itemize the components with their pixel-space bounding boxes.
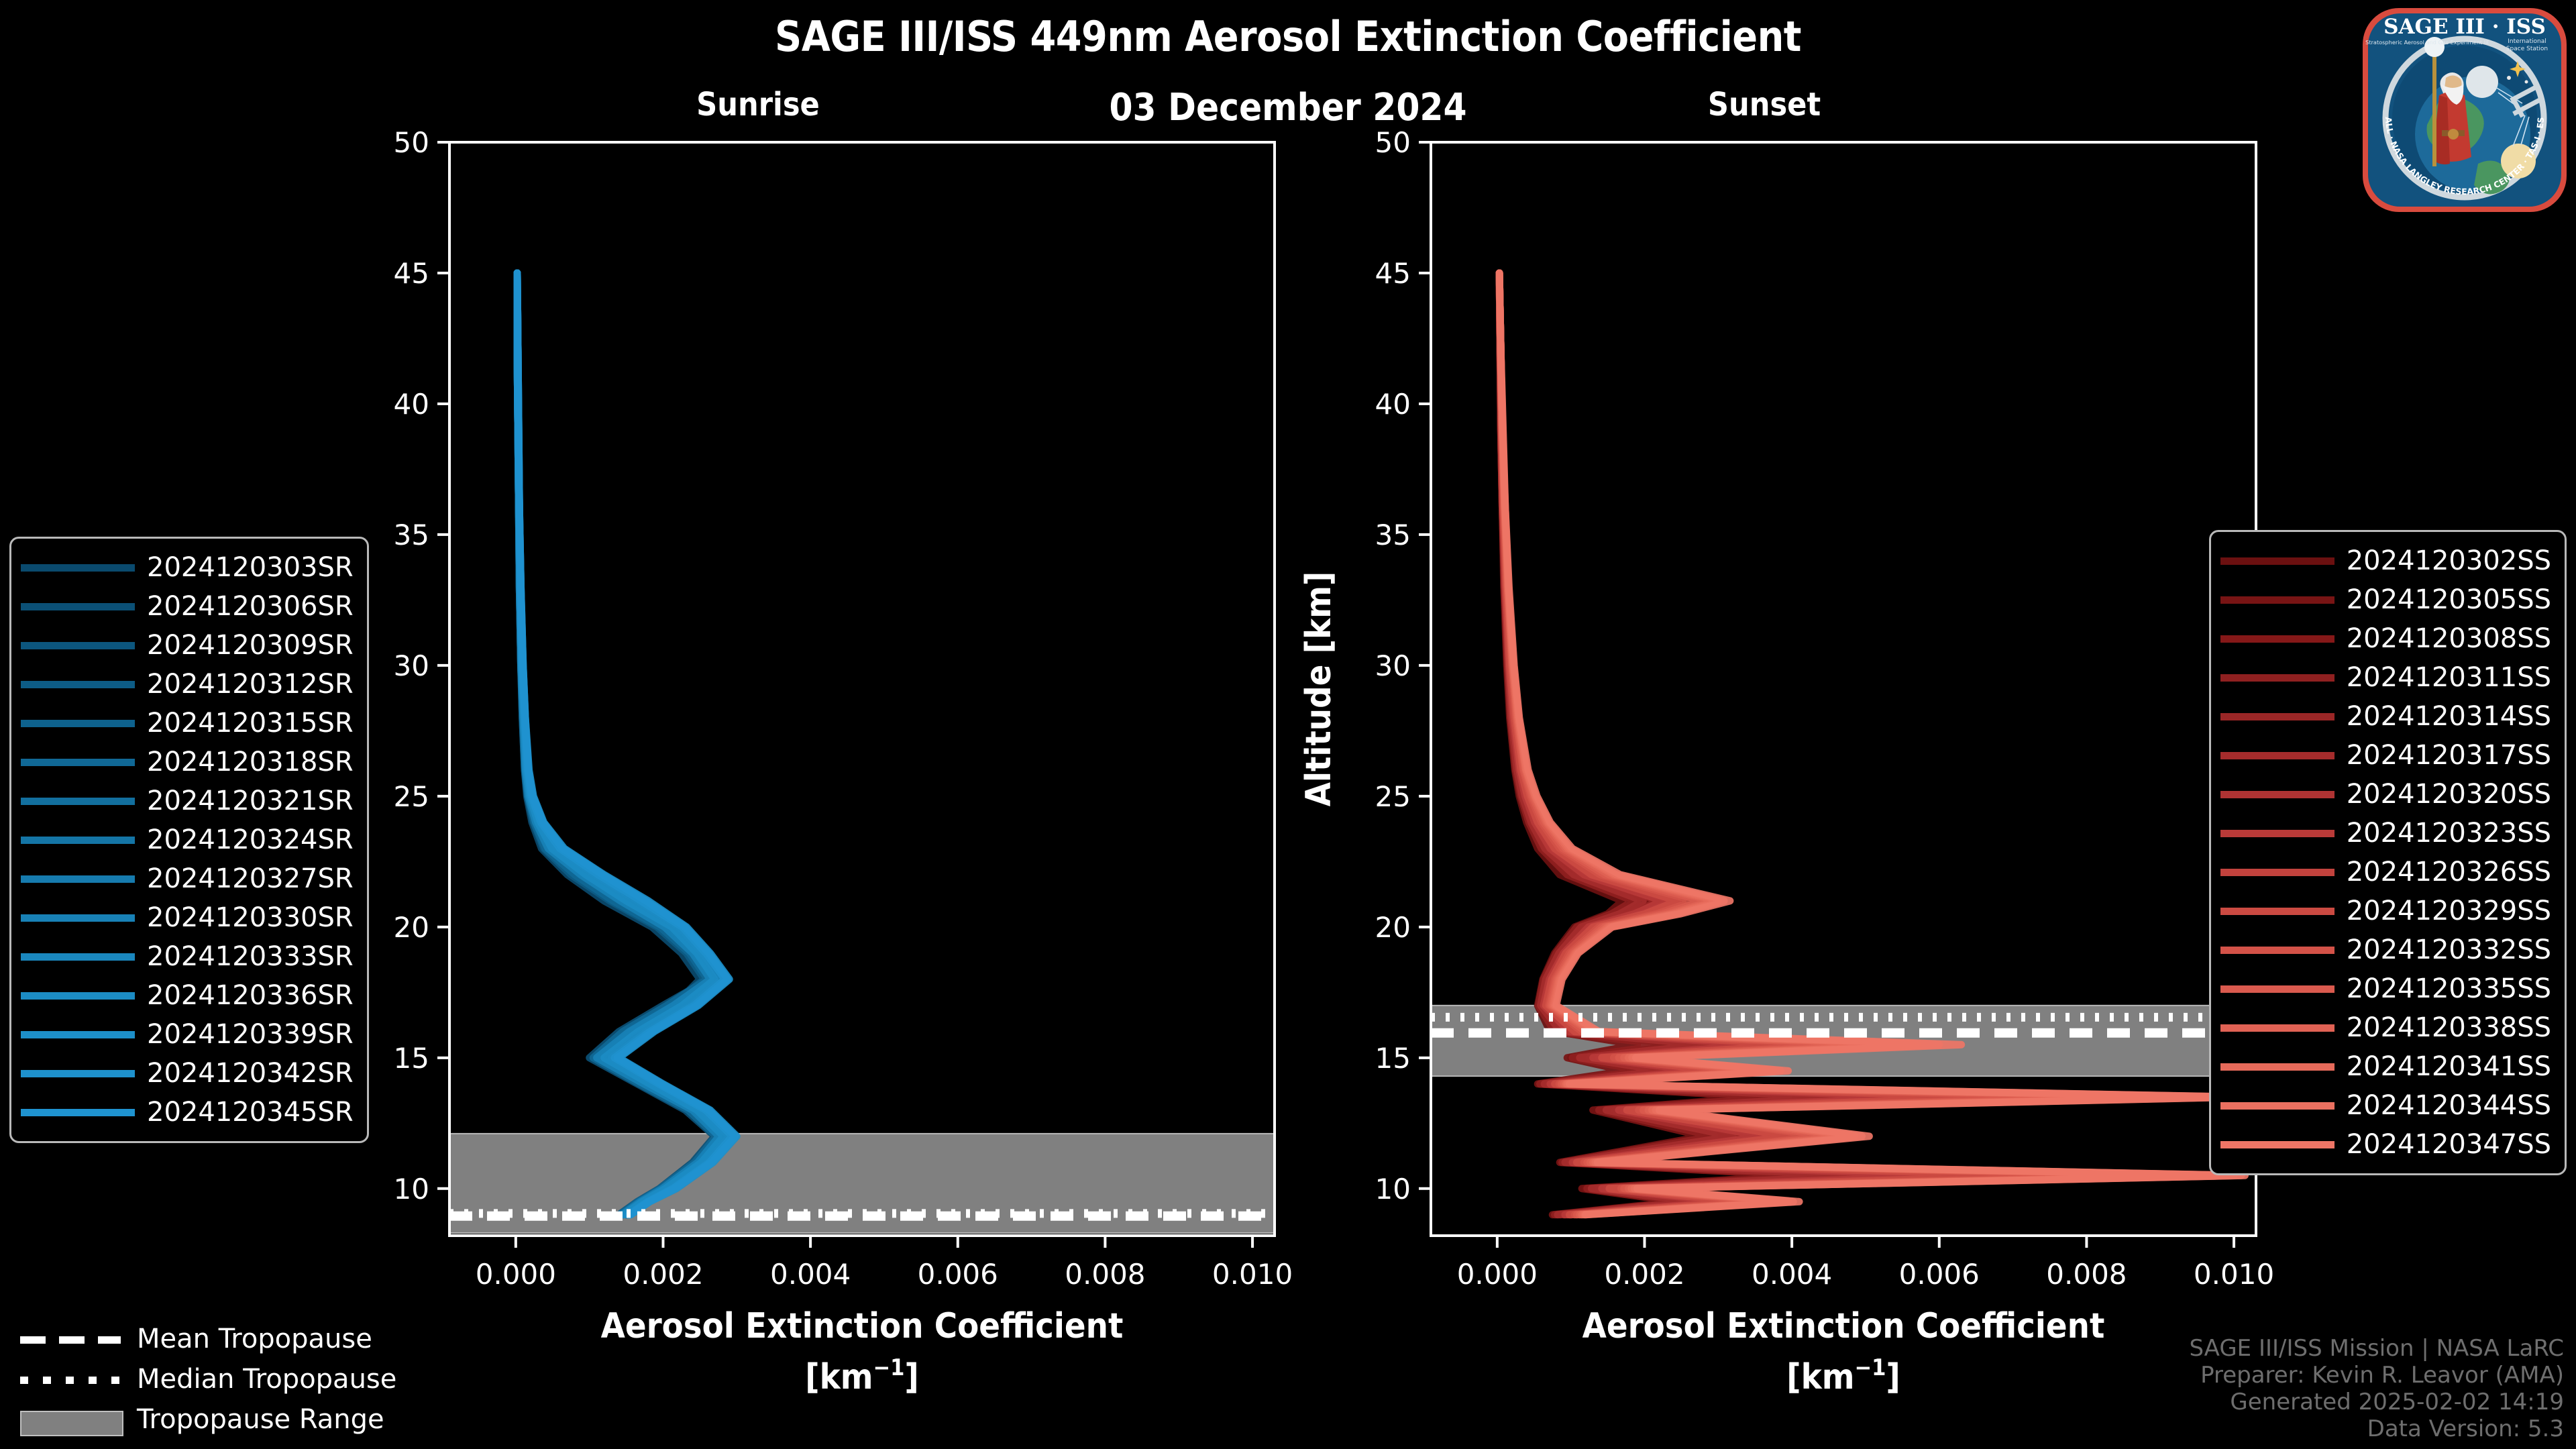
legend-item[interactable]: 2024120326SS [2220, 853, 2551, 892]
legend-swatch [21, 603, 135, 610]
legend-item[interactable]: 2024120320SS [2220, 775, 2551, 814]
x-tick-label: 0.004 [1752, 1258, 1832, 1291]
tropopause-legend-item: Median Tropopause [20, 1359, 396, 1399]
legend-swatch [2220, 947, 2334, 954]
legend-tropopause: Mean TropopauseMedian TropopauseTropopau… [20, 1319, 396, 1440]
y-tick-label: 35 [1375, 519, 1411, 551]
legend-item-label: 2024120323SS [2347, 818, 2551, 849]
x-tick-label: 0.008 [1065, 1258, 1145, 1291]
y-tick-label: 50 [1375, 126, 1411, 159]
legend-swatch [2220, 908, 2334, 915]
legend-swatch [21, 953, 135, 961]
x-axis-exponent: −1 [1854, 1354, 1886, 1381]
legend-item[interactable]: 2024120324SR [21, 820, 354, 859]
y-tick-label: 15 [1375, 1042, 1411, 1075]
legend-item-label: 2024120314SS [2347, 701, 2551, 732]
legend-item-label: 2024120341SS [2347, 1051, 2551, 1082]
legend-item-label: 2024120329SS [2347, 896, 2551, 926]
legend-item[interactable]: 2024120306SR [21, 587, 354, 626]
tropopause-legend-label: Tropopause Range [137, 1404, 384, 1435]
legend-item-label: 2024120339SR [147, 1019, 354, 1050]
legend-item-label: 2024120321SR [147, 786, 354, 816]
credits-block: SAGE III/ISS Mission | NASA LaRCPreparer… [2189, 1335, 2564, 1442]
legend-item-label: 2024120344SS [2347, 1090, 2551, 1121]
x-tick-label: 0.006 [1899, 1258, 1980, 1291]
legend-item-label: 2024120330SR [147, 902, 354, 933]
legend-item[interactable]: 2024120347SS [2220, 1125, 2551, 1164]
legend-swatch [21, 564, 135, 572]
legend-item-label: 2024120318SR [147, 747, 354, 777]
x-axis-exponent: −1 [873, 1354, 904, 1381]
y-tick-label: 20 [394, 911, 429, 944]
legend-item[interactable]: 2024120312SR [21, 665, 354, 704]
legend-item-label: 2024120305SS [2347, 584, 2551, 615]
logo-subtitle-right-1: International [2508, 38, 2546, 45]
sage-iii-iss-logo: SAGE III · ISS Stratospheric Aerosol and… [2357, 3, 2572, 217]
legend-item-label: 2024120317SS [2347, 740, 2551, 771]
legend-item-label: 2024120311SS [2347, 662, 2551, 693]
x-tick-label: 0.004 [770, 1258, 851, 1291]
legend-item-label: 2024120327SR [147, 863, 354, 894]
legend-item-label: 2024120333SR [147, 941, 354, 972]
plot-background [449, 142, 1275, 1236]
legend-swatch [21, 1031, 135, 1038]
tropopause-legend-label: Median Tropopause [137, 1364, 396, 1395]
legend-item[interactable]: 2024120308SS [2220, 619, 2551, 658]
legend-swatch [21, 875, 135, 883]
legend-swatch [2220, 1063, 2334, 1071]
legend-item[interactable]: 2024120317SS [2220, 736, 2551, 775]
y-tick-label: 40 [1375, 388, 1411, 421]
legend-item[interactable]: 2024120332SS [2220, 930, 2551, 969]
legend-item[interactable]: 2024120305SS [2220, 580, 2551, 619]
logo-subtitle-right-2: Space Station [2506, 46, 2548, 52]
legend-item[interactable]: 2024120302SS [2220, 541, 2551, 580]
tropopause-line-swatch [20, 1377, 121, 1384]
tropopause-legend-item: Tropopause Range [20, 1399, 396, 1440]
x-tick-label: 0.002 [1604, 1258, 1684, 1291]
legend-item-label: 2024120320SS [2347, 779, 2551, 810]
logo-subtitle-left: Stratospheric Aerosol and Gas Experiment… [2365, 39, 2489, 46]
legend-item-label: 2024120338SS [2347, 1012, 2551, 1043]
tropopause-legend-key [20, 1371, 121, 1388]
credit-line: Data Version: 5.3 [2189, 1415, 2564, 1442]
legend-item[interactable]: 2024120315SR [21, 704, 354, 743]
y-tick-label: 20 [1375, 911, 1411, 944]
credit-line: Generated 2025-02-02 14:19 [2189, 1389, 2564, 1415]
legend-item[interactable]: 2024120323SS [2220, 814, 2551, 853]
legend-item[interactable]: 2024120339SR [21, 1015, 354, 1054]
legend-item[interactable]: 2024120333SR [21, 937, 354, 976]
legend-swatch [2220, 791, 2334, 798]
legend-sunrise[interactable]: 2024120303SR2024120306SR2024120309SR2024… [9, 537, 369, 1143]
x-tick-label: 0.010 [2194, 1258, 2274, 1291]
y-tick-label: 25 [1375, 780, 1411, 813]
legend-item-label: 2024120345SR [147, 1097, 354, 1128]
y-tick-label: 35 [394, 519, 429, 551]
legend-swatch [2220, 713, 2334, 720]
legend-item[interactable]: 2024120327SR [21, 859, 354, 898]
legend-item-label: 2024120342SR [147, 1058, 354, 1089]
legend-item-label: 2024120326SS [2347, 857, 2551, 888]
x-axis-label-line2: [km−1] [805, 1354, 919, 1397]
x-tick-label: 0.006 [918, 1258, 998, 1291]
legend-item-label: 2024120303SR [147, 552, 354, 583]
legend-swatch [21, 642, 135, 649]
legend-swatch [21, 681, 135, 688]
legend-item[interactable]: 2024120345SR [21, 1093, 354, 1132]
legend-item[interactable]: 2024120314SS [2220, 697, 2551, 736]
logo-title: SAGE III · ISS [2383, 15, 2546, 39]
tropopause-legend-key [20, 1330, 121, 1348]
legend-item[interactable]: 2024120321SR [21, 782, 354, 820]
tropopause-legend-key [20, 1411, 121, 1428]
y-tick-label: 50 [394, 126, 429, 159]
legend-swatch [2220, 752, 2334, 759]
legend-item[interactable]: 2024120318SR [21, 743, 354, 782]
legend-item-label: 2024120302SS [2347, 545, 2551, 576]
legend-item[interactable]: 2024120330SR [21, 898, 354, 937]
legend-item[interactable]: 2024120311SS [2220, 658, 2551, 697]
y-tick-label: 10 [394, 1173, 429, 1205]
legend-swatch [21, 992, 135, 1000]
x-axis-bracket: ] [1886, 1357, 1900, 1397]
legend-swatch [21, 837, 135, 844]
legend-item-label: 2024120309SR [147, 630, 354, 661]
legend-item[interactable]: 2024120338SS [2220, 1008, 2551, 1047]
tropopause-range-swatch [20, 1411, 123, 1436]
legend-item[interactable]: 2024120344SS [2220, 1086, 2551, 1125]
legend-swatch [21, 720, 135, 727]
y-tick-label: 30 [1375, 649, 1411, 682]
credit-line: SAGE III/ISS Mission | NASA LaRC [2189, 1335, 2564, 1362]
legend-item-label: 2024120312SR [147, 669, 354, 700]
legend-swatch [21, 798, 135, 805]
tropopause-legend-item: Mean Tropopause [20, 1319, 396, 1359]
legend-swatch [2220, 1141, 2334, 1148]
x-axis-label-line2: [km−1] [1786, 1354, 1900, 1397]
x-tick-label: 0.000 [1457, 1258, 1538, 1291]
legend-swatch [2220, 985, 2334, 993]
legend-item[interactable]: 2024120336SR [21, 976, 354, 1015]
y-axis-label: Altitude [km] [1299, 572, 1339, 806]
legend-item-label: 2024120335SS [2347, 973, 2551, 1004]
x-axis-label-line1: Aerosol Extinction Coefficient [1582, 1306, 2105, 1346]
legend-item[interactable]: 2024120341SS [2220, 1047, 2551, 1086]
tropopause-line-swatch [20, 1336, 121, 1344]
y-tick-label: 25 [394, 780, 429, 813]
y-tick-label: 45 [1375, 257, 1411, 290]
x-axis-label-line1: Aerosol Extinction Coefficient [601, 1306, 1124, 1346]
tropopause-legend-label: Mean Tropopause [137, 1324, 372, 1354]
legend-sunset[interactable]: 2024120302SS2024120305SS2024120308SS2024… [2209, 530, 2567, 1175]
legend-swatch [2220, 1102, 2334, 1110]
legend-swatch [21, 759, 135, 766]
y-tick-label: 30 [394, 649, 429, 682]
legend-swatch [21, 1070, 135, 1077]
legend-swatch [21, 914, 135, 922]
x-axis-bracket: ] [904, 1357, 918, 1397]
legend-item[interactable]: 2024120342SR [21, 1054, 354, 1093]
y-tick-label: 45 [394, 257, 429, 290]
x-tick-label: 0.002 [623, 1258, 703, 1291]
legend-swatch [2220, 674, 2334, 682]
legend-swatch [2220, 869, 2334, 876]
legend-item-label: 2024120336SR [147, 980, 354, 1011]
y-tick-label: 15 [394, 1042, 429, 1075]
legend-swatch [2220, 635, 2334, 643]
legend-item-label: 2024120332SS [2347, 934, 2551, 965]
legend-item[interactable]: 2024120309SR [21, 626, 354, 665]
legend-item[interactable]: 2024120335SS [2220, 969, 2551, 1008]
x-tick-label: 0.000 [476, 1258, 556, 1291]
legend-swatch [2220, 557, 2334, 565]
credit-line: Preparer: Kevin R. Leavor (AMA) [2189, 1362, 2564, 1389]
legend-swatch [2220, 830, 2334, 837]
legend-swatch [2220, 596, 2334, 604]
legend-item[interactable]: 2024120329SS [2220, 892, 2551, 930]
legend-item-label: 2024120324SR [147, 824, 354, 855]
x-tick-label: 0.008 [2046, 1258, 2127, 1291]
legend-item[interactable]: 2024120303SR [21, 548, 354, 587]
logo-moon [2466, 66, 2498, 98]
y-tick-label: 10 [1375, 1173, 1411, 1205]
y-tick-label: 40 [394, 388, 429, 421]
legend-swatch [2220, 1024, 2334, 1032]
legend-item-label: 2024120315SR [147, 708, 354, 739]
legend-swatch [21, 1109, 135, 1116]
legend-item-label: 2024120308SS [2347, 623, 2551, 654]
legend-item-label: 2024120306SR [147, 591, 354, 622]
legend-item-label: 2024120347SS [2347, 1129, 2551, 1160]
